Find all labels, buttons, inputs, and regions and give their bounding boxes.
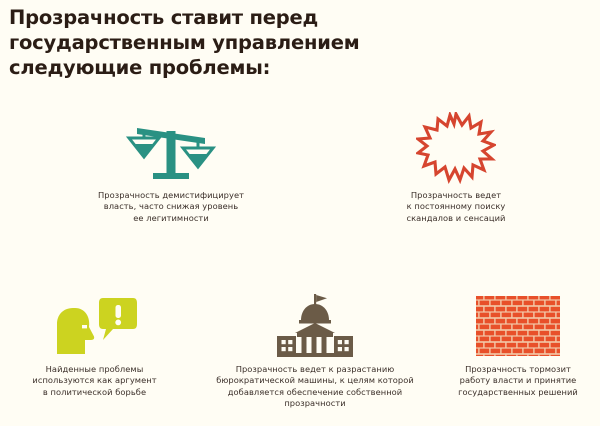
caption-line: власть, часто снижая уровень bbox=[62, 201, 280, 212]
problem-item-slowdown: Прозрачность тормозит работу власти и пр… bbox=[436, 292, 600, 398]
caption-line: прозрачности bbox=[192, 398, 438, 409]
caption-line: к постоянному поиску bbox=[350, 201, 562, 212]
page-title-line-3: следующие проблемы: bbox=[9, 55, 429, 80]
problem-item-scales-caption: Прозрачность демистифицирует власть, час… bbox=[62, 190, 280, 224]
brick-wall-icon-wrap bbox=[436, 292, 600, 358]
problem-item-scandal-caption: Прозрачность ведет к постоянному поиску … bbox=[350, 190, 562, 224]
caption-line: в политической борьбе bbox=[2, 387, 187, 398]
caption-line: государственных решений bbox=[436, 387, 600, 398]
balance-scales-icon bbox=[123, 112, 219, 184]
brick-wall-icon bbox=[473, 294, 563, 358]
caption-line: Прозрачность ведет к разрастанию bbox=[192, 364, 438, 375]
problem-item-slowdown-caption: Прозрачность тормозит работу власти и пр… bbox=[436, 364, 600, 398]
page-title: Прозрачность ставит перед государственны… bbox=[9, 5, 429, 80]
explosion-starburst-icon-wrap bbox=[350, 112, 562, 184]
balance-scales-icon-wrap bbox=[62, 112, 280, 184]
caption-line: ее легитимности bbox=[62, 213, 280, 224]
caption-line: Прозрачность тормозит bbox=[436, 364, 600, 375]
caption-line: бюрократической машины, к целям которой bbox=[192, 375, 438, 386]
head-speech-bubble-icon-wrap bbox=[2, 292, 187, 358]
infographic-canvas: Прозрачность ставит перед государственны… bbox=[0, 0, 600, 426]
page-title-line-2: государственным управлением bbox=[9, 30, 429, 55]
problem-item-political-argument: Найденные проблемы используются как аргу… bbox=[2, 292, 187, 398]
problem-item-bureaucracy: Прозрачность ведет к разрастанию бюрокра… bbox=[192, 292, 438, 410]
caption-line: скандалов и сенсаций bbox=[350, 213, 562, 224]
caption-line: Найденные проблемы bbox=[2, 364, 187, 375]
explosion-starburst-icon bbox=[416, 112, 496, 184]
problem-item-bureaucracy-caption: Прозрачность ведет к разрастанию бюрокра… bbox=[192, 364, 438, 410]
problem-item-political-argument-caption: Найденные проблемы используются как аргу… bbox=[2, 364, 187, 398]
problem-item-scandal: Прозрачность ведет к постоянному поиску … bbox=[350, 112, 562, 224]
caption-line: Прозрачность ведет bbox=[350, 190, 562, 201]
government-building-icon-wrap bbox=[192, 292, 438, 358]
caption-line: Прозрачность демистифицирует bbox=[62, 190, 280, 201]
problem-item-scales: Прозрачность демистифицирует власть, час… bbox=[62, 112, 280, 224]
caption-line: используются как аргумент bbox=[2, 375, 187, 386]
caption-line: добавляется обеспечение собственной bbox=[192, 387, 438, 398]
head-speech-bubble-icon bbox=[51, 294, 139, 358]
government-building-icon bbox=[273, 294, 357, 358]
caption-line: работу власти и принятие bbox=[436, 375, 600, 386]
page-title-line-1: Прозрачность ставит перед bbox=[9, 5, 429, 30]
